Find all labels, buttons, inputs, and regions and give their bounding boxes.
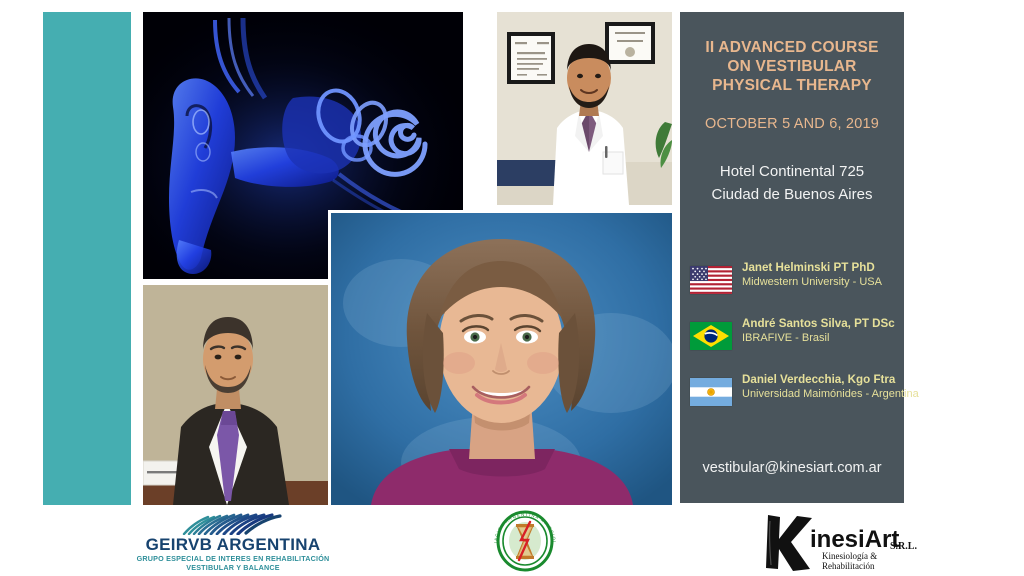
speaker-item-brazil: André Santos Silva, PT DSc IBRAFIVE - Br… bbox=[690, 316, 904, 372]
speaker-list: Janet Helminski PT PhD Midwestern Univer… bbox=[690, 260, 904, 428]
speaker-text: Daniel Verdecchia, Kgo Ftra Universidad … bbox=[742, 372, 904, 402]
svg-text:Kinesiología &: Kinesiología & bbox=[822, 551, 877, 561]
svg-text:Rehabilitación: Rehabilitación bbox=[822, 561, 875, 571]
speaker-text: Janet Helminski PT PhD Midwestern Univer… bbox=[742, 260, 904, 290]
usa-flag-graphic bbox=[690, 266, 732, 294]
title-line-2: ON VESTIBULAR bbox=[686, 57, 898, 76]
janet-helminski-photo bbox=[331, 213, 672, 505]
geirvb-subtitle-line-2: VESTIBULAR Y BALANCE bbox=[128, 563, 338, 572]
seal-graphic: ASOCIACION ARGENTINA KINESIOLOGIA bbox=[480, 510, 570, 572]
conference-poster: II ADVANCED COURSE ON VESTIBULAR PHYSICA… bbox=[0, 0, 1024, 576]
speaker-text: André Santos Silva, PT DSc IBRAFIVE - Br… bbox=[742, 316, 904, 346]
argentina-flag-graphic bbox=[690, 378, 732, 406]
title-line-3: PHYSICAL THERAPY bbox=[686, 76, 898, 95]
sponsor-logo-strip: GEIRVB ARGENTINA GRUPO ESPECIAL DE INTER… bbox=[0, 505, 1024, 576]
kinesiart-logo: inesiArt S.R.L. Kinesiología & Rehabilit… bbox=[760, 511, 930, 573]
geirvb-name: GEIRVB ARGENTINA bbox=[128, 535, 338, 554]
contact-email[interactable]: vestibular@kinesiart.com.ar bbox=[686, 460, 898, 476]
teal-accent-bar bbox=[43, 12, 131, 505]
event-info-panel: II ADVANCED COURSE ON VESTIBULAR PHYSICA… bbox=[680, 12, 904, 503]
svg-text:S.R.L.: S.R.L. bbox=[890, 541, 917, 552]
brazil-flag-icon bbox=[690, 322, 732, 350]
speaker-name: Janet Helminski PT PhD bbox=[742, 260, 904, 275]
brazil-flag-graphic bbox=[690, 322, 732, 350]
speaker-affiliation: Midwestern University - USA bbox=[742, 275, 904, 290]
speaker-item-usa: Janet Helminski PT PhD Midwestern Univer… bbox=[690, 260, 904, 316]
geirvb-subtitle-line-1: GRUPO ESPECIAL DE INTERES EN REHABILITAC… bbox=[128, 554, 338, 563]
svg-text:inesiArt: inesiArt bbox=[810, 526, 899, 553]
event-date: OCTOBER 5 AND 6, 2019 bbox=[686, 116, 898, 132]
daniel-portrait-graphic bbox=[143, 285, 328, 505]
speaker-name: Daniel Verdecchia, Kgo Ftra bbox=[742, 372, 904, 387]
venue-line-2: Ciudad de Buenos Aires bbox=[686, 183, 898, 206]
event-venue: Hotel Continental 725 Ciudad de Buenos A… bbox=[686, 160, 898, 206]
page-title: II ADVANCED COURSE ON VESTIBULAR PHYSICA… bbox=[686, 38, 898, 95]
argentina-flag-icon bbox=[690, 378, 732, 406]
andre-santos-silva-photo bbox=[497, 12, 672, 205]
geirvb-fan-icon bbox=[128, 513, 338, 535]
speaker-affiliation: IBRAFIVE - Brasil bbox=[742, 331, 904, 346]
title-line-1: II ADVANCED COURSE bbox=[686, 38, 898, 57]
speaker-name: André Santos Silva, PT DSc bbox=[742, 316, 904, 331]
asociacion-argentina-kinesiologia-seal: ASOCIACION ARGENTINA KINESIOLOGIA bbox=[480, 510, 570, 572]
speaker-affiliation: Universidad Maimónides - Argentina bbox=[742, 387, 904, 402]
kinesiart-graphic: inesiArt S.R.L. Kinesiología & Rehabilit… bbox=[760, 511, 930, 573]
janet-portrait-graphic bbox=[331, 213, 672, 505]
andre-portrait-graphic bbox=[497, 12, 672, 205]
speaker-item-argentina: Daniel Verdecchia, Kgo Ftra Universidad … bbox=[690, 372, 904, 428]
geirvb-argentina-logo: GEIRVB ARGENTINA GRUPO ESPECIAL DE INTER… bbox=[128, 513, 338, 575]
daniel-verdecchia-photo bbox=[143, 285, 328, 505]
usa-flag-icon bbox=[690, 266, 732, 294]
venue-line-1: Hotel Continental 725 bbox=[686, 160, 898, 183]
